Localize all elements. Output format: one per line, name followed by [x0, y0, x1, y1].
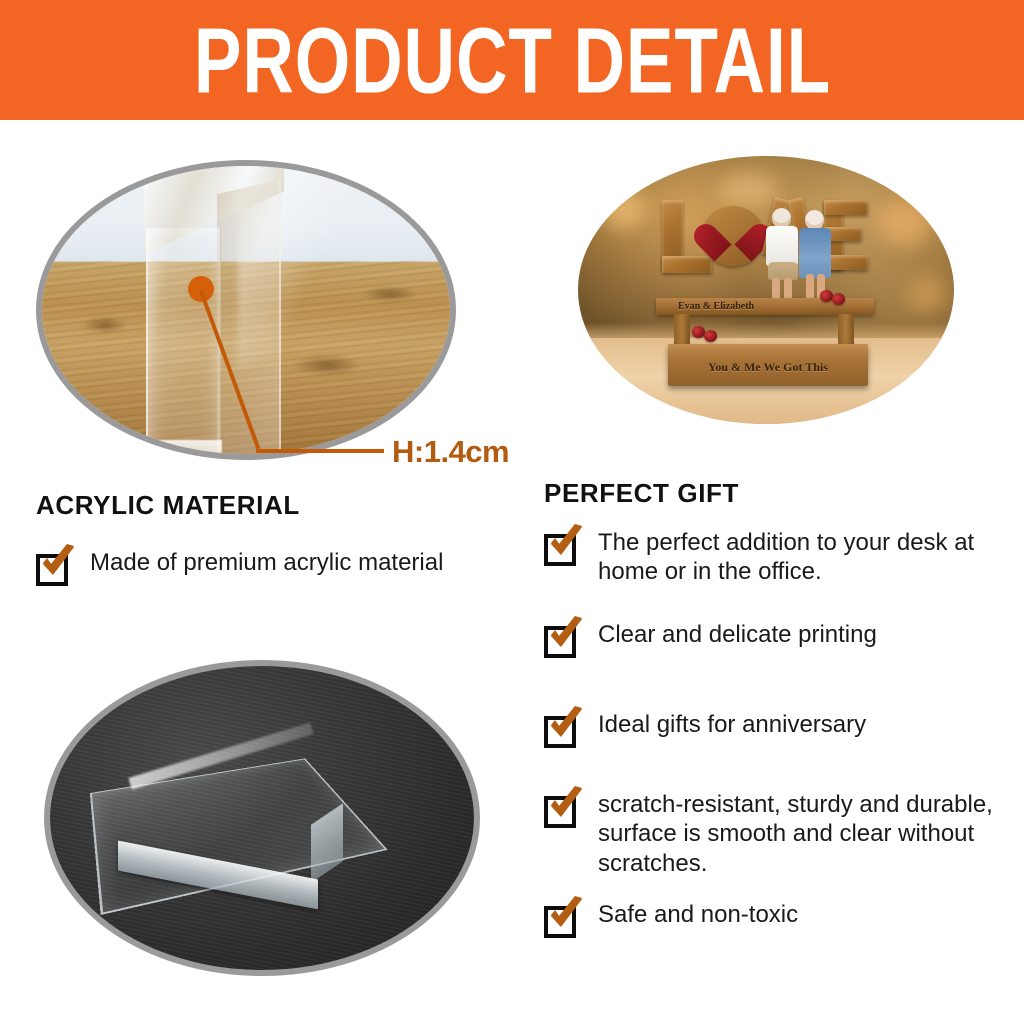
check-mark-icon [546, 896, 586, 936]
check-mark-icon [546, 706, 586, 746]
callout-leader-line-horizontal [256, 449, 384, 453]
feature-item-acrylic-0: Made of premium acrylic material [36, 548, 516, 586]
bokeh-light [878, 200, 932, 246]
header-banner: PRODUCT DETAIL [0, 0, 1024, 120]
rose-decoration [820, 290, 833, 302]
acrylic-front-face [146, 228, 221, 460]
check-mark-icon [546, 786, 586, 826]
feature-text: Ideal gifts for anniversary [598, 710, 866, 739]
acrylic-block-photo [44, 660, 480, 976]
love-figurine-photo: Evan & Elizabeth You & Me We Got This [578, 156, 954, 424]
person-woman [796, 210, 836, 304]
checkbox-checked-icon [544, 622, 580, 658]
checkbox-checked-icon [544, 792, 580, 828]
feature-item-gift-4: Safe and non-toxic [544, 900, 994, 938]
feature-text: Made of premium acrylic material [90, 548, 443, 577]
rose-decoration [704, 330, 717, 342]
feature-text: Safe and non-toxic [598, 900, 798, 929]
feature-text: scratch-resistant, sturdy and durable, s… [598, 790, 1004, 878]
wood-knot [292, 354, 362, 376]
feature-item-gift-0: The perfect addition to your desk at hom… [544, 528, 994, 587]
feature-text: Clear and delicate printing [598, 620, 877, 649]
feature-item-gift-3: scratch-resistant, sturdy and durable, s… [544, 790, 1004, 878]
checkbox-checked-icon [544, 902, 580, 938]
rose-decoration [832, 293, 845, 305]
acrylic-bottom-bevel [146, 440, 222, 460]
love-figurine: Evan & Elizabeth You & Me We Got This [656, 194, 886, 394]
man-head [772, 208, 791, 228]
section-heading-perfect-gift: PERFECT GIFT [544, 478, 739, 509]
red-heart-icon [711, 214, 755, 256]
check-mark-icon [546, 616, 586, 656]
dimension-label: H:1.4cm [392, 434, 509, 470]
wood-knot [362, 286, 418, 302]
checkbox-checked-icon [544, 712, 580, 748]
woman-dress [799, 228, 831, 278]
feature-text: The perfect addition to your desk at hom… [598, 528, 994, 587]
bokeh-light [600, 190, 646, 230]
feature-item-gift-2: Ideal gifts for anniversary [544, 710, 994, 748]
checkbox-checked-icon [36, 550, 72, 586]
man-shirt [766, 226, 798, 266]
section-heading-acrylic-material: ACRYLIC MATERIAL [36, 490, 300, 521]
page-title: PRODUCT DETAIL [193, 14, 830, 107]
wood-knot [82, 316, 128, 334]
letter-L-foot [662, 256, 712, 273]
bokeh-light [908, 276, 948, 312]
acrylic-slab [138, 166, 288, 460]
woman-head [805, 210, 824, 230]
acrylic-block [98, 732, 388, 942]
bench-engraving: Evan & Elizabeth [678, 301, 754, 312]
base-engraving: You & Me We Got This [708, 360, 828, 375]
man-shorts [768, 262, 798, 280]
check-mark-icon [546, 524, 586, 564]
checkbox-checked-icon [544, 530, 580, 566]
check-mark-icon [38, 544, 78, 584]
feature-item-gift-1: Clear and delicate printing [544, 620, 994, 658]
